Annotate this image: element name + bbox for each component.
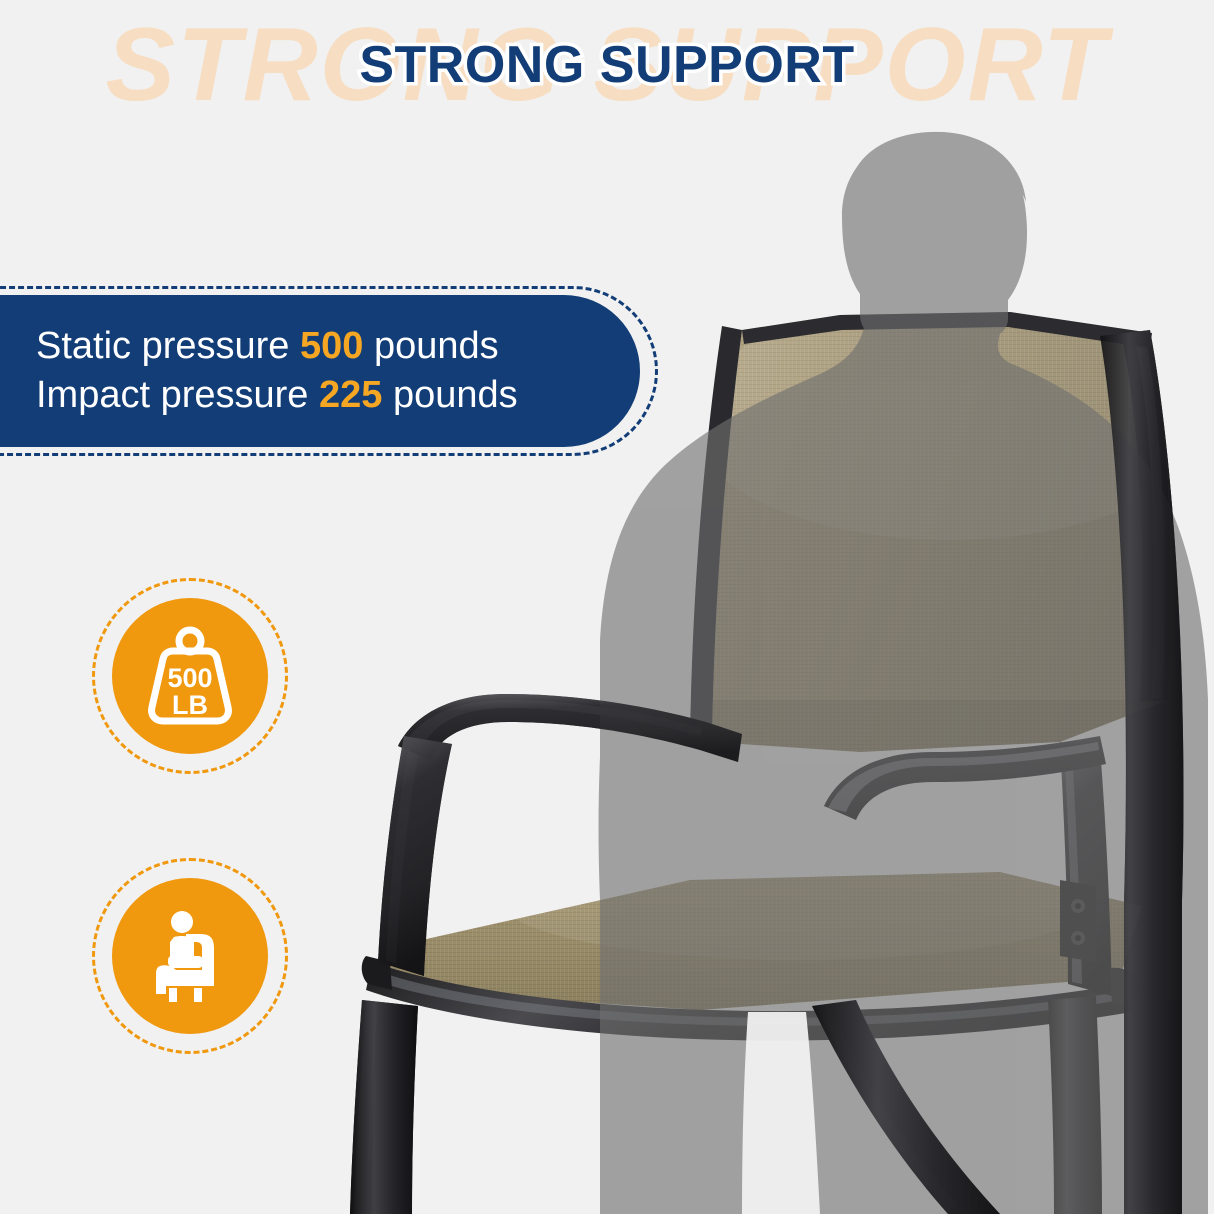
weight-circle: 500 LB xyxy=(112,598,268,754)
badge-line-impact: Impact pressure 225 pounds xyxy=(36,371,636,420)
impact-pressure-value: 225 xyxy=(319,374,382,416)
badge-line-static: Static pressure 500 pounds xyxy=(36,322,636,371)
weight-unit-text: LB xyxy=(172,690,208,720)
header: STRONG SUPPORT STRONG SUPPORT xyxy=(0,0,1214,130)
impact-pressure-unit: pounds xyxy=(382,374,517,416)
pressure-badge: Static pressure 500 pounds Impact pressu… xyxy=(0,286,664,458)
seat-circle xyxy=(112,878,268,1034)
static-pressure-value: 500 xyxy=(300,325,363,367)
feature-comfortable-seating xyxy=(92,858,288,1054)
page-title: STRONG SUPPORT xyxy=(0,0,1214,130)
person-shadow xyxy=(599,132,1208,1214)
static-pressure-unit: pounds xyxy=(363,325,498,367)
feature-weight-capacity: 500 LB xyxy=(92,578,288,774)
weight-500lb-icon: 500 LB xyxy=(135,621,245,731)
impact-pressure-label: Impact pressure xyxy=(36,374,319,416)
promo-canvas: STRONG SUPPORT STRONG SUPPORT Static pre… xyxy=(0,0,1214,1214)
static-pressure-label: Static pressure xyxy=(36,325,300,367)
weight-value-text: 500 xyxy=(167,663,212,693)
badge-text-block: Static pressure 500 pounds Impact pressu… xyxy=(36,295,636,447)
person-seated-icon xyxy=(138,904,242,1008)
